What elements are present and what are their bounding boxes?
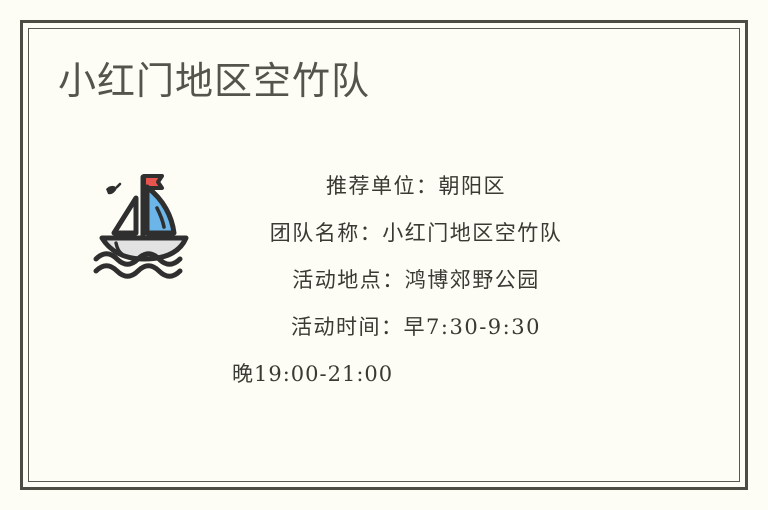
card-content: 小红门地区空竹队 (0, 0, 768, 510)
page-title: 小红门地区空竹队 (58, 58, 370, 106)
info-line-activity-time: 活动时间：早7:30-9:30 (196, 304, 636, 351)
info-line-team-name: 团队名称：小红门地区空竹队 (196, 210, 636, 257)
info-line-activity-location: 活动地点：鸿博郊野公园 (196, 257, 636, 304)
card-page: 小红门地区空竹队 (0, 0, 768, 510)
team-info-block: 推荐单位：朝阳区 团队名称：小红门地区空竹队 活动地点：鸿博郊野公园 活动时间：… (196, 163, 636, 398)
sailboat-icon (84, 160, 204, 280)
info-line-activity-time-evening: 晚19:00-21:00 (196, 351, 636, 398)
info-line-recommending-unit: 推荐单位：朝阳区 (196, 163, 636, 210)
